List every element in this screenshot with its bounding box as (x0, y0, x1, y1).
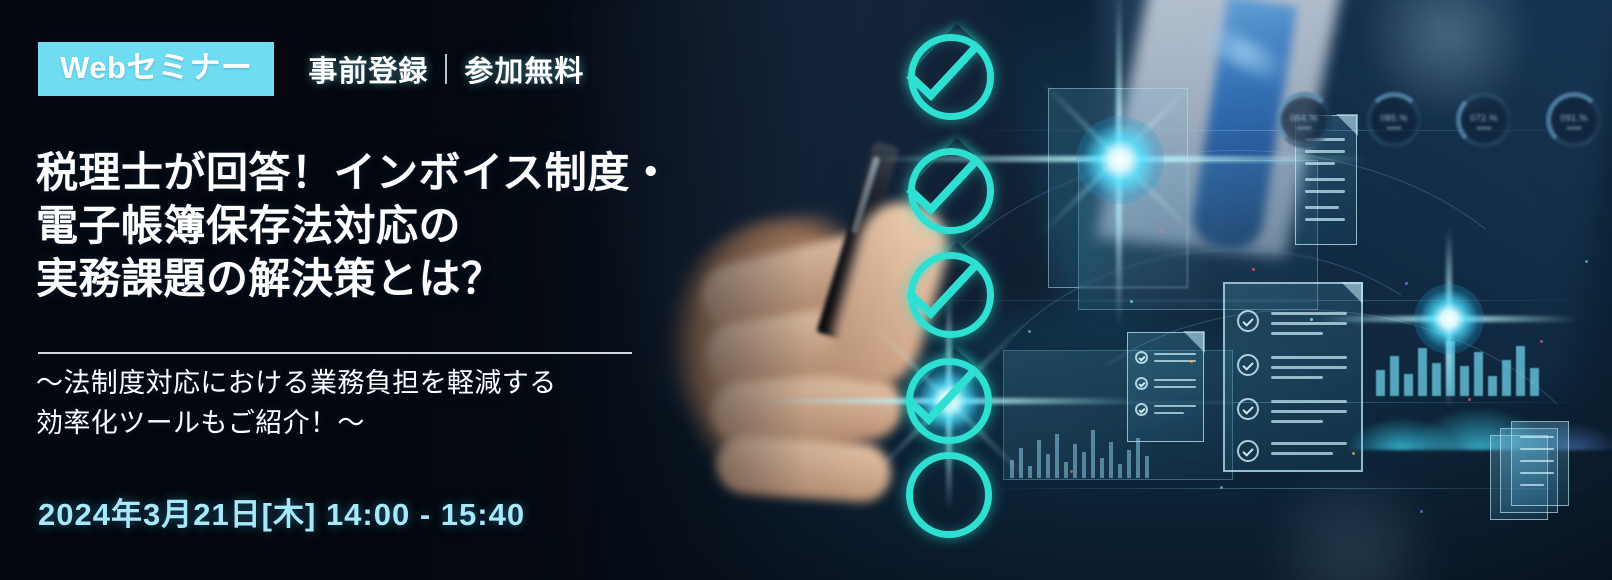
webinar-banner: 064.%■■■■ 085.%■■■■ 072.%■■■■ 091.%■■■■ (0, 0, 1612, 580)
page-title: 税理士が回答！インボイス制度・ 電子帳簿保存法対応の 実務課題の解決策とは？ (36, 146, 672, 305)
eyebrow-row: Webセミナー 事前登録 参加無料 (38, 42, 584, 96)
headline-line-2: 電子帳簿保存法対応の (36, 199, 672, 252)
eyebrow-notes: 事前登録 参加無料 (308, 48, 584, 90)
eyebrow-note-secondary: 参加無料 (464, 48, 584, 90)
subtitle-line-1: 〜法制度対応における業務負担を軽減する (36, 363, 557, 403)
eyebrow-separator (445, 54, 447, 84)
subtitle: 〜法制度対応における業務負担を軽減する 効率化ツールもご紹介！〜 (36, 363, 557, 443)
divider (38, 352, 632, 354)
event-datetime: 2024年3月21日[木] 14:00 - 15:40 (38, 489, 525, 534)
headline-line-3: 実務課題の解決策とは？ (36, 252, 672, 305)
subtitle-line-2: 効率化ツールもご紹介！〜 (36, 403, 557, 443)
banner-content: Webセミナー 事前登録 参加無料 税理士が回答！インボイス制度・ 電子帳簿保存… (0, 0, 760, 580)
webinar-badge: Webセミナー (38, 42, 274, 96)
eyebrow-note-primary: 事前登録 (308, 48, 428, 90)
headline-line-1: 税理士が回答！インボイス制度・ (36, 146, 672, 199)
